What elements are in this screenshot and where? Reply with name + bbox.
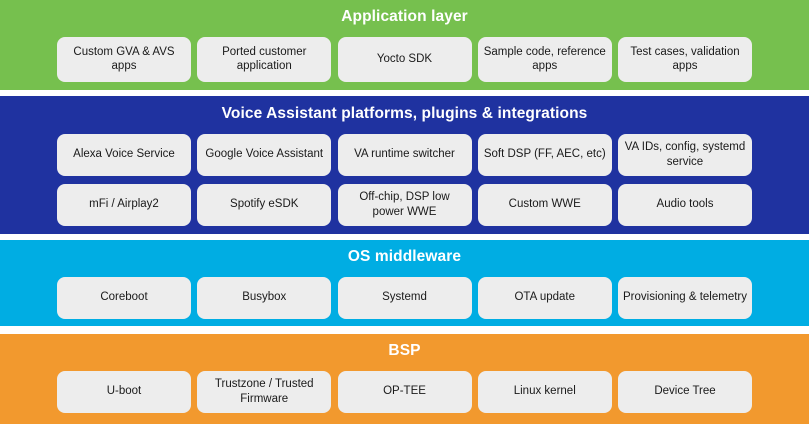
- layer-application: Application layer Custom GVA & AVS apps …: [0, 0, 809, 90]
- layer-bsp: BSP U-boot Trustzone / Trusted Firmware …: [0, 334, 809, 424]
- node-busybox[interactable]: Busybox: [197, 277, 331, 319]
- node-row: Coreboot Busybox Systemd OTA update Prov…: [57, 277, 752, 319]
- layer-title-os-middleware: OS middleware: [0, 249, 809, 265]
- node-yocto-sdk[interactable]: Yocto SDK: [338, 37, 472, 82]
- node-u-boot[interactable]: U-boot: [57, 371, 191, 413]
- node-systemd[interactable]: Systemd: [338, 277, 472, 319]
- node-linux-kernel[interactable]: Linux kernel: [478, 371, 612, 413]
- node-custom-wwe[interactable]: Custom WWE: [478, 184, 612, 226]
- node-trustzone-trusted-firmware[interactable]: Trustzone / Trusted Firmware: [197, 371, 331, 413]
- layer-voice-assistant: Voice Assistant platforms, plugins & int…: [0, 96, 809, 234]
- node-off-chip-dsp-low-power-wwe[interactable]: Off-chip, DSP low power WWE: [338, 184, 472, 226]
- node-provisioning-telemetry[interactable]: Provisioning & telemetry: [618, 277, 752, 319]
- node-op-tee[interactable]: OP-TEE: [338, 371, 472, 413]
- node-va-runtime-switcher[interactable]: VA runtime switcher: [338, 134, 472, 176]
- architecture-stack-diagram: Application layer Custom GVA & AVS apps …: [0, 0, 809, 424]
- node-row: U-boot Trustzone / Trusted Firmware OP-T…: [57, 371, 752, 413]
- node-ota-update[interactable]: OTA update: [478, 277, 612, 319]
- layer-nodes-bsp: U-boot Trustzone / Trusted Firmware OP-T…: [0, 371, 809, 413]
- node-mfi-airplay2[interactable]: mFi / Airplay2: [57, 184, 191, 226]
- layer-title-bsp: BSP: [0, 343, 809, 359]
- layer-os-middleware: OS middleware Coreboot Busybox Systemd O…: [0, 240, 809, 326]
- node-google-voice-assistant[interactable]: Google Voice Assistant: [197, 134, 331, 176]
- node-soft-dsp[interactable]: Soft DSP (FF, AEC, etc): [478, 134, 612, 176]
- node-row: mFi / Airplay2 Spotify eSDK Off-chip, DS…: [57, 184, 752, 226]
- node-row: Alexa Voice Service Google Voice Assista…: [57, 134, 752, 176]
- node-sample-code-reference-apps[interactable]: Sample code, reference apps: [478, 37, 612, 82]
- node-va-ids-config-systemd-service[interactable]: VA IDs, config, systemd service: [618, 134, 752, 176]
- node-test-cases-validation-apps[interactable]: Test cases, validation apps: [618, 37, 752, 82]
- layer-nodes-os-middleware: Coreboot Busybox Systemd OTA update Prov…: [0, 277, 809, 319]
- node-coreboot[interactable]: Coreboot: [57, 277, 191, 319]
- node-alexa-voice-service[interactable]: Alexa Voice Service: [57, 134, 191, 176]
- node-device-tree[interactable]: Device Tree: [618, 371, 752, 413]
- layer-title-voice-assistant: Voice Assistant platforms, plugins & int…: [0, 106, 809, 122]
- node-row: Custom GVA & AVS apps Ported customer ap…: [57, 37, 752, 82]
- layer-divider-3: [0, 326, 809, 334]
- node-spotify-esdk[interactable]: Spotify eSDK: [197, 184, 331, 226]
- layer-nodes-voice-assistant: Alexa Voice Service Google Voice Assista…: [0, 134, 809, 226]
- node-ported-customer-application[interactable]: Ported customer application: [197, 37, 331, 82]
- node-audio-tools[interactable]: Audio tools: [618, 184, 752, 226]
- layer-nodes-application: Custom GVA & AVS apps Ported customer ap…: [0, 37, 809, 82]
- layer-title-application: Application layer: [0, 9, 809, 25]
- node-custom-gva-avs-apps[interactable]: Custom GVA & AVS apps: [57, 37, 191, 82]
